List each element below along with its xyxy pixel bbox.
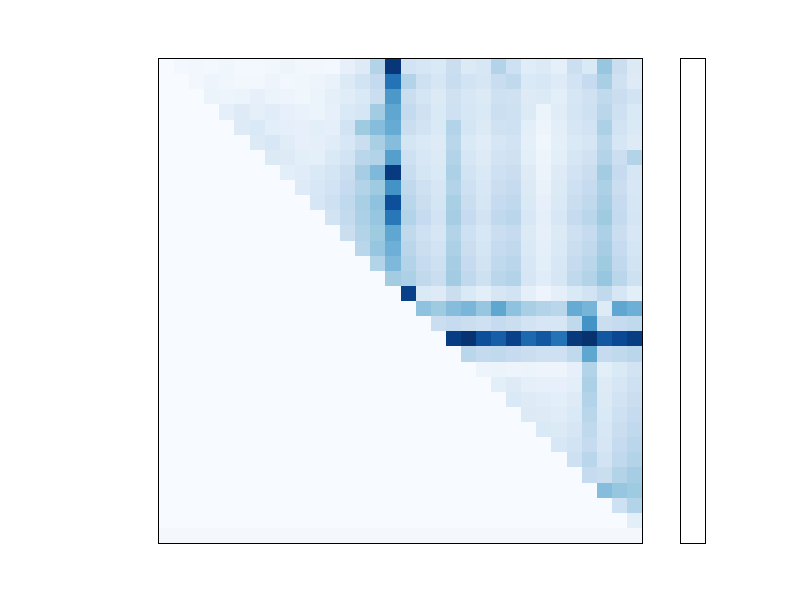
heatmap-cell (265, 407, 280, 422)
heatmap-cell (446, 286, 461, 301)
heatmap-cell (536, 377, 551, 392)
heatmap-cell (476, 392, 491, 407)
heatmap-cell (476, 377, 491, 392)
heatmap-cell (506, 135, 521, 150)
heatmap-cell (476, 210, 491, 225)
heatmap-cell (551, 59, 566, 74)
heatmap-cell (612, 225, 627, 240)
heatmap-cell (567, 346, 582, 361)
heatmap-cell (159, 422, 174, 437)
heatmap-cell (370, 74, 385, 89)
heatmap-cell (491, 452, 506, 467)
heatmap-cell (340, 498, 355, 513)
heatmap-cell (582, 286, 597, 301)
heatmap-cell (370, 135, 385, 150)
heatmap-cell (416, 74, 431, 89)
heatmap-cell (189, 150, 204, 165)
heatmap-cell (536, 286, 551, 301)
heatmap-cell (325, 59, 340, 74)
heatmap-cell (219, 150, 234, 165)
heatmap-cell (265, 286, 280, 301)
heatmap-cell (325, 316, 340, 331)
heatmap-cell (189, 483, 204, 498)
heatmap-cell (234, 498, 249, 513)
heatmap-cell (597, 150, 612, 165)
heatmap-cell (461, 120, 476, 135)
heatmap-cell (250, 437, 265, 452)
heatmap-cell (234, 180, 249, 195)
heatmap-cell (446, 74, 461, 89)
heatmap-cell (582, 362, 597, 377)
heatmap-cell (401, 256, 416, 271)
heatmap-cell (567, 316, 582, 331)
heatmap-cell (340, 362, 355, 377)
heatmap-cell (355, 271, 370, 286)
heatmap-cell (250, 135, 265, 150)
heatmap-cell (567, 452, 582, 467)
heatmap-cell (159, 195, 174, 210)
heatmap-cell (521, 135, 536, 150)
heatmap-cell (189, 120, 204, 135)
heatmap-cell (521, 225, 536, 240)
heatmap-cell (476, 89, 491, 104)
heatmap-cell (612, 195, 627, 210)
heatmap-cell (325, 346, 340, 361)
heatmap-cell (280, 59, 295, 74)
heatmap-cell (536, 498, 551, 513)
heatmap-cell (250, 180, 265, 195)
heatmap-cell (159, 483, 174, 498)
heatmap-cell (265, 346, 280, 361)
heatmap-cell (491, 271, 506, 286)
heatmap-cell (491, 498, 506, 513)
heatmap-cell (219, 195, 234, 210)
heatmap-cell (310, 513, 325, 528)
heatmap-cell (310, 59, 325, 74)
heatmap-cell (521, 89, 536, 104)
heatmap-cell (476, 422, 491, 437)
heatmap-cell (204, 210, 219, 225)
heatmap-cell (189, 210, 204, 225)
heatmap-cell (325, 210, 340, 225)
heatmap-cell (280, 104, 295, 119)
heatmap-cell (612, 513, 627, 528)
heatmap-cell (189, 301, 204, 316)
heatmap-cell (582, 437, 597, 452)
heatmap-cell (370, 59, 385, 74)
heatmap-cell (567, 377, 582, 392)
heatmap-cell (340, 331, 355, 346)
heatmap-cell (627, 165, 642, 180)
heatmap-cell (597, 286, 612, 301)
heatmap-cell (461, 316, 476, 331)
heatmap-cell (416, 392, 431, 407)
heatmap-cell (310, 392, 325, 407)
heatmap-cell (416, 225, 431, 240)
heatmap-cell (582, 377, 597, 392)
heatmap-cell (159, 452, 174, 467)
heatmap-cell (612, 135, 627, 150)
heatmap-cell (506, 437, 521, 452)
heatmap-cell (476, 150, 491, 165)
heatmap-cell (204, 301, 219, 316)
heatmap-cell (265, 59, 280, 74)
heatmap-cell (536, 362, 551, 377)
heatmap-cell (612, 271, 627, 286)
heatmap-cell (159, 104, 174, 119)
heatmap-cell (159, 513, 174, 528)
heatmap-cell (340, 407, 355, 422)
heatmap-cell (506, 422, 521, 437)
heatmap-cell (461, 422, 476, 437)
heatmap-cell (521, 104, 536, 119)
heatmap-cell (431, 452, 446, 467)
heatmap-cell (461, 498, 476, 513)
heatmap-cell (627, 241, 642, 256)
heatmap-cell (325, 195, 340, 210)
heatmap-cell (476, 331, 491, 346)
heatmap-cell (159, 150, 174, 165)
heatmap-cell (385, 180, 400, 195)
heatmap-cell (280, 346, 295, 361)
heatmap-cell (219, 452, 234, 467)
heatmap-cell (582, 150, 597, 165)
heatmap-cell (491, 74, 506, 89)
heatmap-cell (234, 271, 249, 286)
heatmap-cell (506, 392, 521, 407)
heatmap-cell (340, 210, 355, 225)
heatmap-cell (567, 180, 582, 195)
heatmap-cell (340, 316, 355, 331)
heatmap-cell (627, 74, 642, 89)
heatmap-cell (325, 362, 340, 377)
heatmap-cell (476, 165, 491, 180)
heatmap-cell (446, 180, 461, 195)
heatmap-cell (265, 467, 280, 482)
heatmap-cell (385, 89, 400, 104)
heatmap-cell (612, 452, 627, 467)
heatmap-cell (506, 195, 521, 210)
heatmap-cell (280, 241, 295, 256)
heatmap-cell (401, 362, 416, 377)
heatmap-cell (234, 210, 249, 225)
heatmap-cell (265, 135, 280, 150)
heatmap-cell (385, 452, 400, 467)
heatmap-cell (446, 135, 461, 150)
heatmap-cell (340, 513, 355, 528)
heatmap-cell (476, 74, 491, 89)
heatmap-cell (325, 120, 340, 135)
heatmap-cell (476, 225, 491, 240)
heatmap-cell (597, 241, 612, 256)
heatmap-cell (204, 120, 219, 135)
heatmap-cell (476, 59, 491, 74)
heatmap-cell (325, 331, 340, 346)
heatmap-cell (597, 135, 612, 150)
heatmap-cell (567, 225, 582, 240)
heatmap-cell (401, 286, 416, 301)
heatmap-cell (265, 483, 280, 498)
heatmap-cell (461, 89, 476, 104)
heatmap-cell (280, 210, 295, 225)
heatmap-cell (204, 74, 219, 89)
heatmap-cell (280, 513, 295, 528)
heatmap-cell (476, 256, 491, 271)
heatmap-cell (280, 452, 295, 467)
heatmap-cell (551, 377, 566, 392)
heatmap-cell (204, 286, 219, 301)
heatmap-cell (431, 271, 446, 286)
heatmap-cell (219, 467, 234, 482)
heatmap-cell (521, 120, 536, 135)
heatmap-cell (189, 225, 204, 240)
heatmap-cell (189, 271, 204, 286)
heatmap-cell (416, 513, 431, 528)
heatmap-cell (536, 135, 551, 150)
heatmap-cell (325, 377, 340, 392)
heatmap-cell (476, 180, 491, 195)
heatmap-cell (204, 89, 219, 104)
heatmap-cell (536, 74, 551, 89)
heatmap-cell (612, 407, 627, 422)
heatmap-cell (567, 498, 582, 513)
heatmap-cell (355, 165, 370, 180)
heatmap-cell (385, 483, 400, 498)
heatmap-cell (416, 210, 431, 225)
heatmap-cell (431, 135, 446, 150)
heatmap-cell (446, 483, 461, 498)
heatmap-cell (612, 59, 627, 74)
heatmap-cell (219, 483, 234, 498)
heatmap-cell (280, 467, 295, 482)
heatmap-cell (295, 362, 310, 377)
heatmap-cell (234, 513, 249, 528)
heatmap-cell (416, 135, 431, 150)
heatmap-cell (401, 180, 416, 195)
heatmap-cell (280, 331, 295, 346)
heatmap-cell (612, 422, 627, 437)
heatmap-cell (370, 452, 385, 467)
heatmap-cell (219, 513, 234, 528)
heatmap-cell (280, 120, 295, 135)
heatmap-cell (159, 59, 174, 74)
heatmap-cell (506, 180, 521, 195)
heatmap-cell (174, 422, 189, 437)
heatmap-cell (461, 286, 476, 301)
heatmap-cell (159, 437, 174, 452)
heatmap-cell (521, 422, 536, 437)
heatmap-cell (476, 467, 491, 482)
heatmap-cell (174, 195, 189, 210)
heatmap-cell (174, 346, 189, 361)
heatmap-cell (506, 467, 521, 482)
heatmap-cell (340, 452, 355, 467)
heatmap-cell (627, 286, 642, 301)
heatmap-cell (295, 135, 310, 150)
heatmap-cell (234, 452, 249, 467)
heatmap-cell (325, 74, 340, 89)
heatmap-cell (627, 89, 642, 104)
heatmap-cell (446, 407, 461, 422)
heatmap-cell (491, 195, 506, 210)
heatmap-cell (401, 89, 416, 104)
heatmap-cell (295, 59, 310, 74)
heatmap-cell (582, 467, 597, 482)
heatmap-cell (446, 150, 461, 165)
heatmap-cell (265, 195, 280, 210)
heatmap-cell (250, 346, 265, 361)
heatmap-cell (597, 407, 612, 422)
heatmap-cell (174, 467, 189, 482)
heatmap-cell (536, 120, 551, 135)
heatmap-cell (597, 301, 612, 316)
heatmap-cell (234, 165, 249, 180)
heatmap-cell (310, 104, 325, 119)
heatmap-cell (506, 210, 521, 225)
heatmap-cell (234, 195, 249, 210)
heatmap-cell (250, 59, 265, 74)
heatmap-cell (355, 513, 370, 528)
heatmap-cell (431, 195, 446, 210)
heatmap-cell (567, 483, 582, 498)
heatmap-cell (370, 165, 385, 180)
heatmap-cell (446, 452, 461, 467)
heatmap-cell (234, 59, 249, 74)
heatmap-cell (627, 513, 642, 528)
heatmap-cell (325, 498, 340, 513)
heatmap-cell (597, 256, 612, 271)
heatmap-cell (219, 377, 234, 392)
heatmap-cell (461, 104, 476, 119)
heatmap-cell (491, 467, 506, 482)
heatmap-cell (295, 195, 310, 210)
heatmap-cell (204, 362, 219, 377)
heatmap-cell (189, 452, 204, 467)
heatmap-cell (174, 286, 189, 301)
heatmap-cell (521, 286, 536, 301)
heatmap-cell (370, 407, 385, 422)
heatmap-cell (627, 225, 642, 240)
heatmap-cell (612, 483, 627, 498)
heatmap-cell (491, 407, 506, 422)
heatmap-cell (250, 210, 265, 225)
heatmap-cell (204, 59, 219, 74)
heatmap-cell (280, 316, 295, 331)
heatmap-cell (204, 241, 219, 256)
heatmap-cell (265, 316, 280, 331)
heatmap-cell (431, 392, 446, 407)
heatmap-cell (159, 286, 174, 301)
heatmap-cell (536, 422, 551, 437)
heatmap-cell (431, 346, 446, 361)
heatmap-cell (250, 286, 265, 301)
heatmap-cell (461, 513, 476, 528)
heatmap-cell (385, 59, 400, 74)
heatmap-cell (340, 422, 355, 437)
heatmap-cell (627, 422, 642, 437)
heatmap-cell (310, 256, 325, 271)
heatmap-cell (551, 286, 566, 301)
heatmap-cell (536, 437, 551, 452)
heatmap-cell (204, 165, 219, 180)
heatmap-cell (310, 89, 325, 104)
heatmap-cell (551, 104, 566, 119)
heatmap-cell (340, 301, 355, 316)
heatmap-cell (431, 104, 446, 119)
heatmap-cell (174, 165, 189, 180)
heatmap-cell (597, 483, 612, 498)
heatmap-cell (250, 513, 265, 528)
heatmap-cell (491, 362, 506, 377)
heatmap-cell (536, 256, 551, 271)
heatmap-cell (521, 377, 536, 392)
heatmap-cell (461, 346, 476, 361)
heatmap-cell (174, 316, 189, 331)
heatmap-cell (461, 241, 476, 256)
heatmap-cell (219, 437, 234, 452)
heatmap-cell (189, 498, 204, 513)
heatmap-cell (325, 513, 340, 528)
heatmap-cell (431, 301, 446, 316)
heatmap-cell (582, 74, 597, 89)
heatmap-cell (325, 104, 340, 119)
heatmap-cell (582, 104, 597, 119)
heatmap-cell (582, 392, 597, 407)
heatmap-cell (597, 346, 612, 361)
heatmap-cell (325, 256, 340, 271)
heatmap-cell (416, 180, 431, 195)
heatmap-cell (461, 392, 476, 407)
heatmap-cell (627, 346, 642, 361)
heatmap-cell (446, 437, 461, 452)
heatmap-cell (567, 301, 582, 316)
heatmap-cell (204, 104, 219, 119)
heatmap-cell (189, 74, 204, 89)
heatmap-cell (219, 331, 234, 346)
heatmap-cell (280, 362, 295, 377)
heatmap-cell (627, 437, 642, 452)
heatmap-cell (310, 437, 325, 452)
heatmap-cell (234, 483, 249, 498)
heatmap-cell (521, 271, 536, 286)
heatmap-cell (174, 377, 189, 392)
heatmap-cell (250, 89, 265, 104)
heatmap-cell (431, 407, 446, 422)
heatmap-cell (567, 210, 582, 225)
heatmap-cell (461, 301, 476, 316)
heatmap-cell (461, 407, 476, 422)
heatmap-cell (340, 241, 355, 256)
heatmap-cell (340, 467, 355, 482)
heatmap-cell (431, 165, 446, 180)
heatmap-cell (159, 407, 174, 422)
heatmap-cell (431, 210, 446, 225)
heatmap-cell (189, 346, 204, 361)
heatmap-cell (401, 210, 416, 225)
heatmap-cell (491, 316, 506, 331)
heatmap-cell (446, 120, 461, 135)
heatmap-cell (612, 120, 627, 135)
heatmap-cell (627, 150, 642, 165)
heatmap-cell (189, 377, 204, 392)
heatmap-cell (159, 241, 174, 256)
heatmap-cell (416, 362, 431, 377)
heatmap-cell (612, 362, 627, 377)
heatmap-cell (536, 241, 551, 256)
heatmap-cell (476, 437, 491, 452)
heatmap-cell (340, 89, 355, 104)
heatmap-cell (310, 165, 325, 180)
